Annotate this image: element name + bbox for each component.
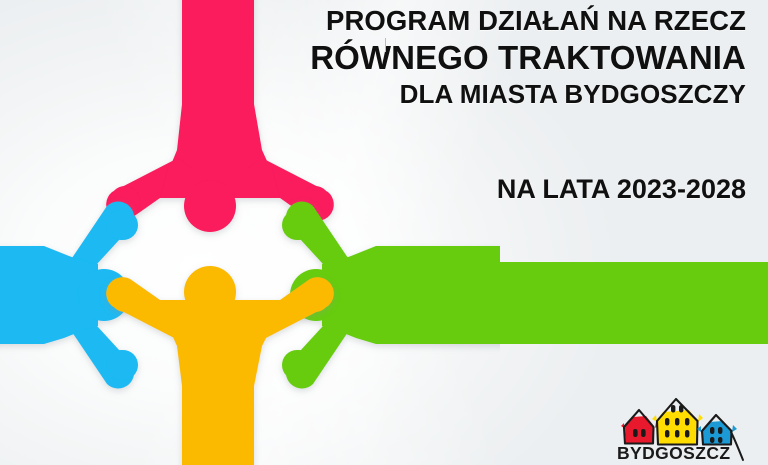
headline-line-3: DLA MIASTA BYDGOSZCZY	[276, 78, 746, 111]
poster-canvas: PROGRAM DZIAŁAŃ NA RZECZ RÓWNEGO TRAKTOW…	[0, 0, 768, 465]
bydgoszcz-city-logo: BYDGOSZCZ	[613, 396, 753, 462]
headline-years: NA LATA 2023-2028	[276, 172, 746, 206]
house-red-icon	[621, 410, 659, 444]
house-yellow-icon	[652, 399, 703, 445]
decorative-hairline	[385, 38, 386, 52]
figure-left	[0, 201, 138, 388]
poster-headline: PROGRAM DZIAŁAŃ NA RZECZ RÓWNEGO TRAKTOW…	[276, 4, 746, 111]
house-blue-icon	[697, 415, 737, 445]
logo-wordmark: BYDGOSZCZ	[617, 443, 730, 462]
figure-right-trunk-extension	[460, 262, 768, 344]
headline-line-1: PROGRAM DZIAŁAŃ NA RZECZ	[276, 4, 746, 38]
figure-bottom	[106, 266, 334, 465]
headline-line-2: RÓWNEGO TRAKTOWANIA	[276, 38, 746, 78]
